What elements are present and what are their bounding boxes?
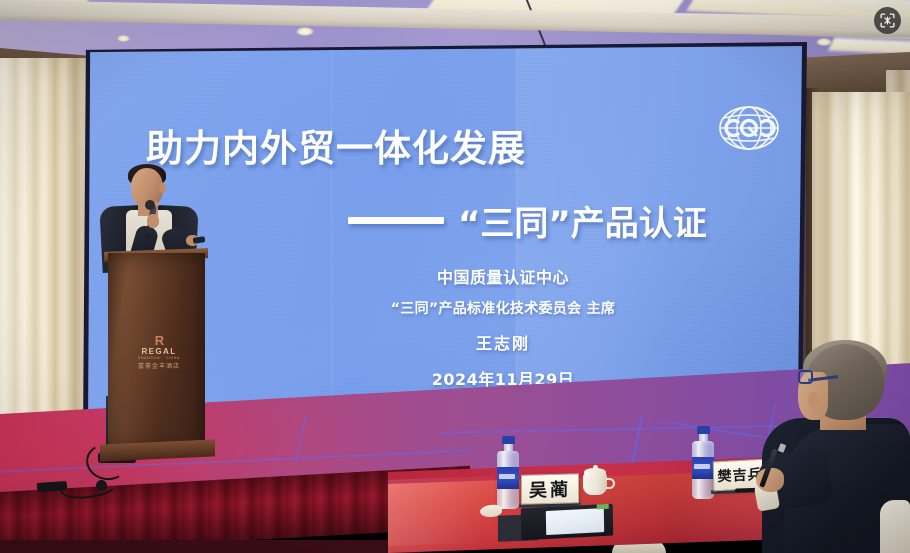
speaker-hand bbox=[147, 214, 159, 228]
cable-plug bbox=[96, 480, 107, 491]
bottle-body bbox=[497, 451, 519, 509]
scan-button[interactable] bbox=[874, 7, 901, 34]
slide-subtitle: “三同”产品认证 bbox=[458, 196, 707, 245]
teacup-knob bbox=[593, 465, 598, 470]
document-tab bbox=[597, 504, 609, 510]
downlight bbox=[296, 27, 314, 36]
slide-title: 助力内外贸一体化发展 bbox=[146, 118, 616, 172]
teacup bbox=[583, 473, 609, 501]
hotel-logo-name: REGAL bbox=[136, 348, 182, 356]
slide-subtitle-dash bbox=[348, 217, 444, 224]
floor bbox=[0, 540, 420, 553]
document-folder bbox=[521, 504, 614, 541]
downlight bbox=[117, 35, 130, 42]
bottle-cap bbox=[697, 426, 710, 434]
slide-subtitle-row: “三同”产品认证 bbox=[348, 196, 778, 245]
chair-back bbox=[880, 500, 910, 553]
scan-frame-icon bbox=[879, 12, 896, 29]
downlight bbox=[816, 38, 832, 46]
bottle-cap bbox=[502, 436, 515, 444]
bottle-neck bbox=[504, 444, 513, 451]
slide-presenter-name: 王志刚 bbox=[278, 330, 728, 354]
hotel-logo-name-cn: 富豪金丰酒店 bbox=[136, 364, 182, 370]
hotel-logo-sub: SHANGHAI · CHINA bbox=[136, 357, 182, 361]
presentation-photo: 助力内外贸一体化发展 “三同”产品认证 中国质量认证中心 “三同”产品标准化技术… bbox=[0, 0, 910, 553]
document-page bbox=[546, 508, 604, 535]
slide-presenter-role: “三同”产品标准化技术委员会 主席 bbox=[278, 298, 728, 318]
curtain-left bbox=[0, 58, 96, 456]
slide-organization: 中国质量认证中心 bbox=[278, 264, 728, 288]
cqc-logo-icon bbox=[718, 104, 780, 152]
water-bottle bbox=[497, 436, 519, 509]
glasses-lens bbox=[798, 370, 813, 384]
table-highlight bbox=[388, 476, 494, 546]
hotel-logo-mark: R bbox=[136, 334, 182, 347]
bottle-neck bbox=[699, 434, 708, 441]
water-bottle bbox=[692, 426, 714, 499]
attendee-ear bbox=[808, 392, 820, 409]
bottle-label bbox=[692, 457, 714, 479]
teacup-body bbox=[583, 473, 607, 495]
nameplate: 吴蔺 bbox=[521, 473, 579, 505]
slide-meta-block: 中国质量认证中心 “三同”产品标准化技术委员会 主席 王志刚 2024年11月2… bbox=[278, 264, 728, 390]
hotel-logo: R REGAL SHANGHAI · CHINA 富豪金丰酒店 bbox=[136, 334, 182, 370]
microphone-head bbox=[145, 200, 155, 210]
speaker-ear bbox=[159, 183, 166, 193]
bottle-label bbox=[497, 467, 519, 489]
